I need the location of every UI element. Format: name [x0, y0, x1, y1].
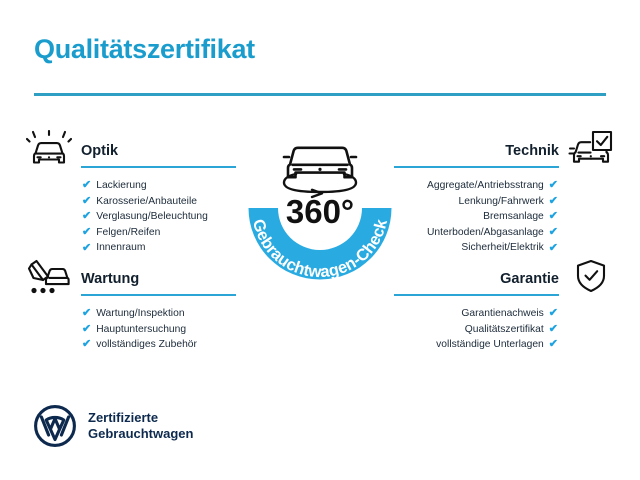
check-icon: ✔ — [82, 196, 91, 207]
list-item: ✔Qualitätszertifikat — [394, 322, 558, 338]
check-icon: ✔ — [82, 227, 91, 238]
list-item-label: Qualitätszertifikat — [465, 322, 544, 338]
badge-center-label: 360° — [286, 193, 354, 230]
section-header-optik: Optik — [26, 134, 236, 170]
check-icon: ✔ — [549, 196, 558, 207]
check-icon: ✔ — [549, 243, 558, 254]
list-item-label: Garantienachweis — [461, 306, 543, 322]
footer-line-1: Zertifizierte — [88, 410, 193, 426]
list-item-label: vollständige Unterlagen — [436, 337, 544, 353]
car-shine-icon — [26, 130, 72, 170]
list-item-label: Bremsanlage — [483, 209, 544, 225]
list-item: ✔Lackierung — [82, 178, 236, 194]
footer-text: Zertifizierte Gebrauchtwagen — [88, 410, 193, 442]
check-icon: ✔ — [549, 308, 558, 319]
list-item-label: Innenraum — [96, 240, 145, 256]
header-divider — [34, 93, 606, 96]
section-wartung: Wartung ✔Wartung/Inspektion ✔Hauptunters… — [26, 262, 236, 353]
certificate-page: Qualitätszertifikat Optik ✔Lackierung — [0, 0, 640, 480]
check-icon: ✔ — [549, 180, 558, 191]
check-icon: ✔ — [549, 339, 558, 350]
check-icon: ✔ — [549, 227, 558, 238]
check-icon: ✔ — [82, 243, 91, 254]
check-icon: ✔ — [82, 211, 91, 222]
check-icon: ✔ — [82, 339, 91, 350]
check-icon: ✔ — [82, 324, 91, 335]
section-title: Wartung — [81, 272, 236, 288]
section-title: Optik — [81, 144, 236, 160]
list-item: ✔Bremsanlage — [394, 209, 558, 225]
list-item: ✔Felgen/Reifen — [82, 225, 236, 241]
check-icon: ✔ — [549, 211, 558, 222]
list-item-label: Sicherheit/Elektrik — [461, 240, 543, 256]
list-item: ✔Aggregate/Antriebsstrang — [394, 178, 558, 194]
section-divider — [394, 166, 559, 168]
section-header-wartung: Wartung — [26, 262, 236, 298]
list-item-label: Felgen/Reifen — [96, 225, 160, 241]
list-item-label: vollständiges Zubehör — [96, 337, 197, 353]
section-title: Garantie — [394, 272, 559, 288]
section-optik: Optik ✔Lackierung ✔Karosserie/Anbauteile… — [26, 134, 236, 256]
footer-brand: Zertifizierte Gebrauchtwagen — [34, 405, 193, 447]
checklist-technik: ✔Aggregate/Antriebsstrang ✔Lenkung/Fahrw… — [394, 178, 614, 256]
list-item-label: Wartung/Inspektion — [96, 306, 184, 322]
list-item-label: Verglasung/Beleuchtung — [96, 209, 208, 225]
list-item: ✔Innenraum — [82, 240, 236, 256]
section-technik: Technik ✔Aggregate/Antriebsstrang ✔Lenku… — [394, 134, 614, 256]
car-checkbox-icon — [568, 130, 614, 170]
check-icon: ✔ — [82, 180, 91, 191]
section-header-garantie: Garantie — [394, 262, 614, 298]
service-pencil-car-icon — [26, 258, 72, 298]
section-garantie: Garantie ✔Garantienachweis ✔Qualitätszer… — [394, 262, 614, 353]
check-icon: ✔ — [549, 324, 558, 335]
section-divider — [394, 294, 559, 296]
list-item: ✔vollständige Unterlagen — [394, 337, 558, 353]
list-item-label: Aggregate/Antriebsstrang — [427, 178, 544, 194]
list-item-label: Unterboden/Abgasanlage — [427, 225, 544, 241]
car-front-rotation-icon — [284, 148, 356, 197]
page-title: Qualitätszertifikat — [34, 34, 255, 65]
check-icon: ✔ — [82, 308, 91, 319]
list-item: ✔Hauptuntersuchung — [82, 322, 236, 338]
list-item-label: Hauptuntersuchung — [96, 322, 186, 338]
checklist-wartung: ✔Wartung/Inspektion ✔Hauptuntersuchung ✔… — [26, 306, 236, 353]
list-item: ✔Wartung/Inspektion — [82, 306, 236, 322]
list-item: ✔Karosserie/Anbauteile — [82, 194, 236, 210]
section-divider — [81, 294, 236, 296]
list-item-label: Lackierung — [96, 178, 146, 194]
list-item: ✔Garantienachweis — [394, 306, 558, 322]
shield-check-icon — [568, 258, 614, 298]
section-divider — [81, 166, 236, 168]
vw-roundel-logo — [34, 405, 76, 447]
list-item: ✔Verglasung/Beleuchtung — [82, 209, 236, 225]
section-title: Technik — [394, 144, 559, 160]
section-header-technik: Technik — [394, 134, 614, 170]
list-item: ✔Unterboden/Abgasanlage — [394, 225, 558, 241]
360-check-badge: Gebrauchtwagen-Check 360° — [226, 112, 414, 300]
checklist-optik: ✔Lackierung ✔Karosserie/Anbauteile ✔Verg… — [26, 178, 236, 256]
checklist-garantie: ✔Garantienachweis ✔Qualitätszertifikat ✔… — [394, 306, 614, 353]
list-item: ✔vollständiges Zubehör — [82, 337, 236, 353]
footer-line-2: Gebrauchtwagen — [88, 426, 193, 442]
list-item-label: Lenkung/Fahrwerk — [459, 194, 544, 210]
list-item-label: Karosserie/Anbauteile — [96, 194, 197, 210]
list-item: ✔Lenkung/Fahrwerk — [394, 194, 558, 210]
list-item: ✔Sicherheit/Elektrik — [394, 240, 558, 256]
